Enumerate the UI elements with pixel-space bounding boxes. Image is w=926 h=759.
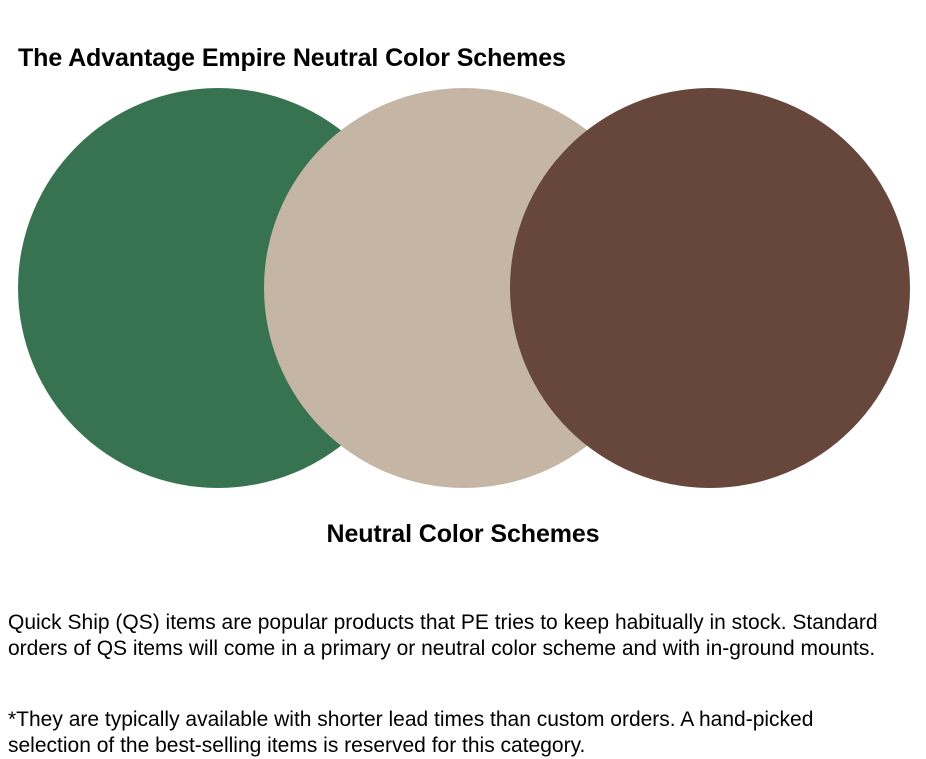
color-swatch-brown [510, 88, 910, 488]
body-paragraph-1: Quick Ship (QS) items are popular produc… [8, 610, 902, 662]
document-page: The Advantage Empire Neutral Color Schem… [0, 0, 926, 752]
swatch-caption: Neutral Color Schemes [0, 519, 926, 549]
page-title: The Advantage Empire Neutral Color Schem… [18, 43, 566, 73]
body-paragraph-2: *They are typically available with short… [8, 707, 902, 759]
color-swatch-group [0, 88, 926, 490]
